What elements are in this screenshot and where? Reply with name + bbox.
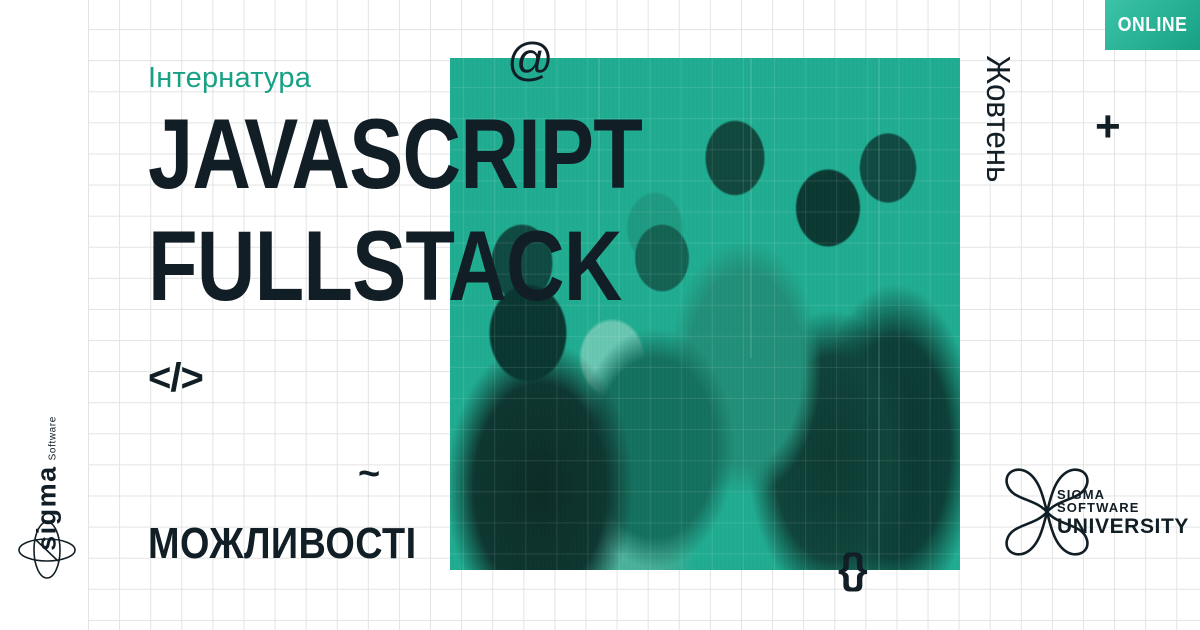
tilde-icon: ~ [358,455,380,493]
status-badge-label: ONLINE [1118,14,1188,37]
plus-icon: + [1095,105,1121,149]
status-badge: ONLINE [1105,0,1200,50]
curly-braces-icon: {} [838,548,865,590]
page-title: JAVASCRIPT FULLSTACK [148,98,750,322]
sigma-atom-icon [14,520,80,585]
month-label: Жовтень [979,55,1017,182]
sigma-software-logo: sigma Software [8,410,86,590]
university-line-2: UNIVERSITY [1057,514,1191,540]
subtitle-word: МОЖЛИВОСТІ [148,521,417,567]
kicker-label: Інтернатура [148,62,311,95]
poster-canvas: Інтернатура JAVASCRIPT FULLSTACK МОЖЛИВО… [0,0,1200,630]
code-arrows-icon: </> [148,358,203,398]
sigma-university-logo: SIGMA SOFTWARE UNIVERSITY [995,462,1191,562]
at-sign-icon: @ [507,36,554,82]
university-line-1: SIGMA SOFTWARE [1057,488,1191,514]
title-line-1: JAVASCRIPT [148,98,642,210]
sigma-sub-text: Software [49,416,61,460]
title-line-2: FULLSTACK [148,210,642,322]
university-wordmark: SIGMA SOFTWARE UNIVERSITY [1057,488,1191,540]
